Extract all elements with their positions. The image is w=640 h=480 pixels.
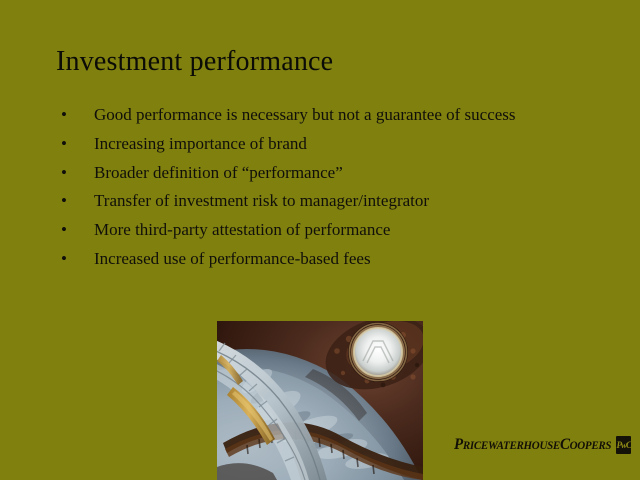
pwc-badge-label: PwC <box>616 436 631 454</box>
bullet-icon: • <box>61 189 71 212</box>
list-item: • Broader definition of “performance” <box>58 161 598 190</box>
bullet-list: • Good performance is necessary but not … <box>58 103 598 276</box>
list-item-label: More third-party attestation of performa… <box>94 218 390 241</box>
pwc-logo: PricewaterhouseCoopers PwC <box>454 432 631 458</box>
page-title: Investment performance <box>56 45 333 79</box>
list-item: • Increased use of performance-based fee… <box>58 247 598 276</box>
list-item: • Good performance is necessary but not … <box>58 103 598 132</box>
slide-canvas: Investment performance • Good performanc… <box>0 0 640 480</box>
list-item: • Transfer of investment risk to manager… <box>58 189 598 218</box>
list-item-label: Good performance is necessary but not a … <box>94 103 516 126</box>
pwc-wordmark: PricewaterhouseCoopers <box>454 435 611 456</box>
pwc-badge-icon: PwC <box>616 436 631 454</box>
dome-interior-photo <box>217 321 423 480</box>
bullet-icon: • <box>61 218 71 241</box>
list-item-label: Transfer of investment risk to manager/i… <box>94 189 429 212</box>
bullet-icon: • <box>61 247 71 270</box>
list-item-label: Increasing importance of brand <box>94 132 307 155</box>
list-item-label: Broader definition of “performance” <box>94 161 343 184</box>
list-item-label: Increased use of performance-based fees <box>94 247 371 270</box>
bullet-icon: • <box>61 103 71 126</box>
list-item: • More third-party attestation of perfor… <box>58 218 598 247</box>
bullet-icon: • <box>61 132 71 155</box>
bullet-icon: • <box>61 161 71 184</box>
list-item: • Increasing importance of brand <box>58 132 598 161</box>
dome-interior-illustration <box>217 321 423 480</box>
